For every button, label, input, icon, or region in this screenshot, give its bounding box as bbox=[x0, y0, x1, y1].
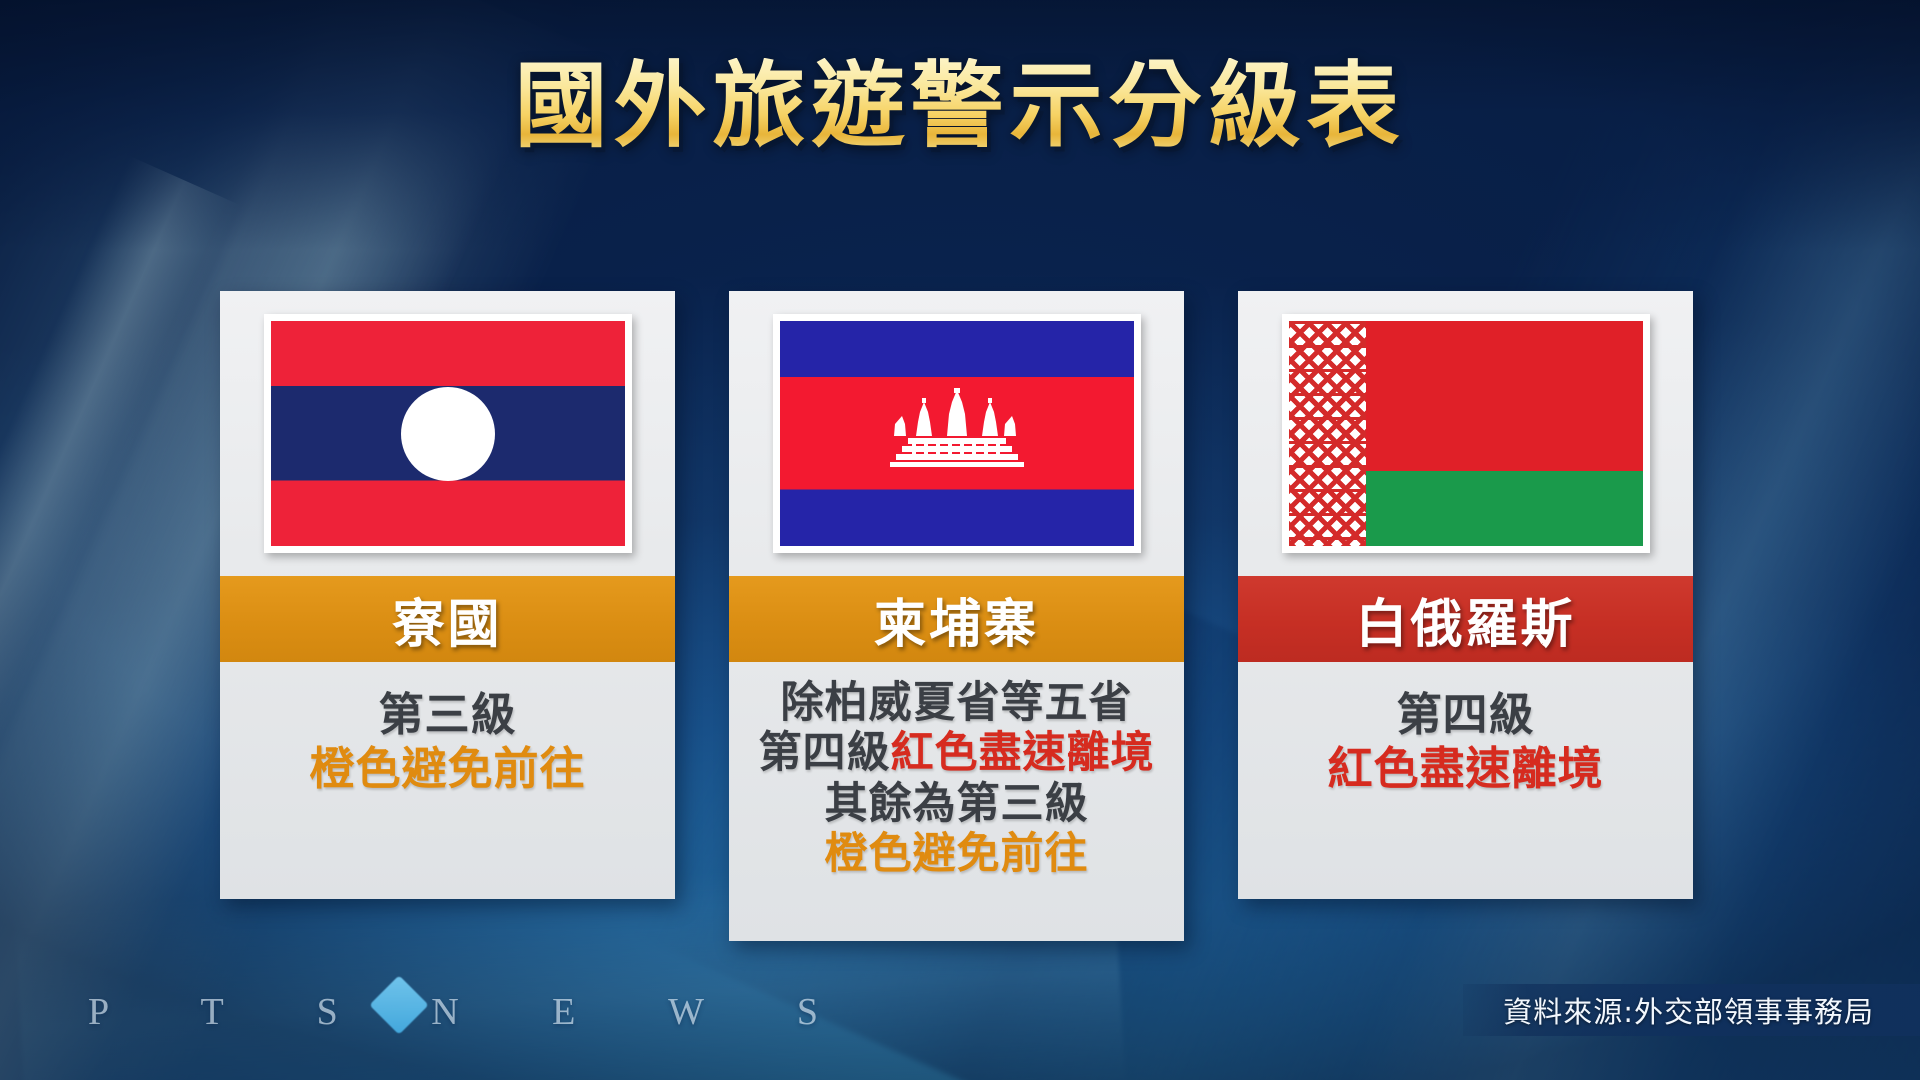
laos-flag bbox=[271, 321, 625, 546]
country-name: 寮國 bbox=[392, 582, 502, 657]
flag-frame bbox=[1282, 314, 1650, 553]
broadcast-graphic: 國外旅遊警示分級表 寮國 第三級 橙色避免前往 bbox=[0, 0, 1920, 1080]
advisory-text: 第四級 紅色盡速離境 bbox=[1238, 662, 1693, 796]
country-band: 柬埔寨 bbox=[729, 576, 1184, 662]
footer: P T S N E W S 資料來源:外交部領事事務局 bbox=[0, 962, 1920, 1080]
cambodia-flag bbox=[780, 321, 1134, 546]
advisory-line-mixed: 第四級紅色盡速離境 bbox=[743, 728, 1170, 778]
advisory-line: 其餘為第三級 bbox=[743, 779, 1170, 829]
pts-news-watermark: P T S N E W S bbox=[88, 990, 860, 1034]
title-container: 國外旅遊警示分級表 bbox=[0, 58, 1920, 156]
advisory-color-note: 紅色盡速離境 bbox=[891, 728, 1155, 778]
page-title: 國外旅遊警示分級表 bbox=[505, 58, 1416, 156]
advisory-line: 除柏威夏省等五省 bbox=[743, 678, 1170, 728]
flag-area bbox=[1238, 291, 1693, 576]
advisory-line: 紅色盡速離境 bbox=[1252, 742, 1679, 796]
country-card-belarus: 白俄羅斯 第四級 紅色盡速離境 bbox=[1238, 291, 1693, 899]
angkor-wat-icon bbox=[882, 388, 1032, 480]
advisory-line: 第三級 bbox=[234, 688, 661, 742]
belarus-flag bbox=[1289, 321, 1643, 546]
source-text: 資料來源:外交部領事事務局 bbox=[1503, 989, 1874, 1031]
advisory-line: 橙色避免前往 bbox=[743, 829, 1170, 879]
country-band: 寮國 bbox=[220, 576, 675, 662]
source-bar: 資料來源:外交部領事事務局 bbox=[1463, 984, 1920, 1036]
country-card-cambodia: 柬埔寨 除柏威夏省等五省 第四級紅色盡速離境 其餘為第三級 橙色避免前往 bbox=[729, 291, 1184, 941]
flag-disc-icon bbox=[401, 387, 495, 481]
country-name: 柬埔寨 bbox=[874, 582, 1039, 657]
card-row: 寮國 第三級 橙色避免前往 bbox=[0, 291, 1920, 941]
advisory-text: 第三級 橙色避免前往 bbox=[220, 662, 675, 796]
flag-frame bbox=[773, 314, 1141, 553]
flag-area bbox=[220, 291, 675, 576]
country-band: 白俄羅斯 bbox=[1238, 576, 1693, 662]
advisory-text: 除柏威夏省等五省 第四級紅色盡速離境 其餘為第三級 橙色避免前往 bbox=[729, 662, 1184, 879]
advisory-line: 橙色避免前往 bbox=[234, 742, 661, 796]
flag-ornament-pattern bbox=[1289, 321, 1367, 546]
flag-ornament-icon bbox=[1289, 321, 1367, 546]
flag-area bbox=[729, 291, 1184, 576]
country-card-laos: 寮國 第三級 橙色避免前往 bbox=[220, 291, 675, 899]
country-name: 白俄羅斯 bbox=[1355, 582, 1575, 657]
advisory-line: 第四級 bbox=[1252, 688, 1679, 742]
flag-frame bbox=[264, 314, 632, 553]
advisory-level: 第四級 bbox=[759, 728, 891, 778]
